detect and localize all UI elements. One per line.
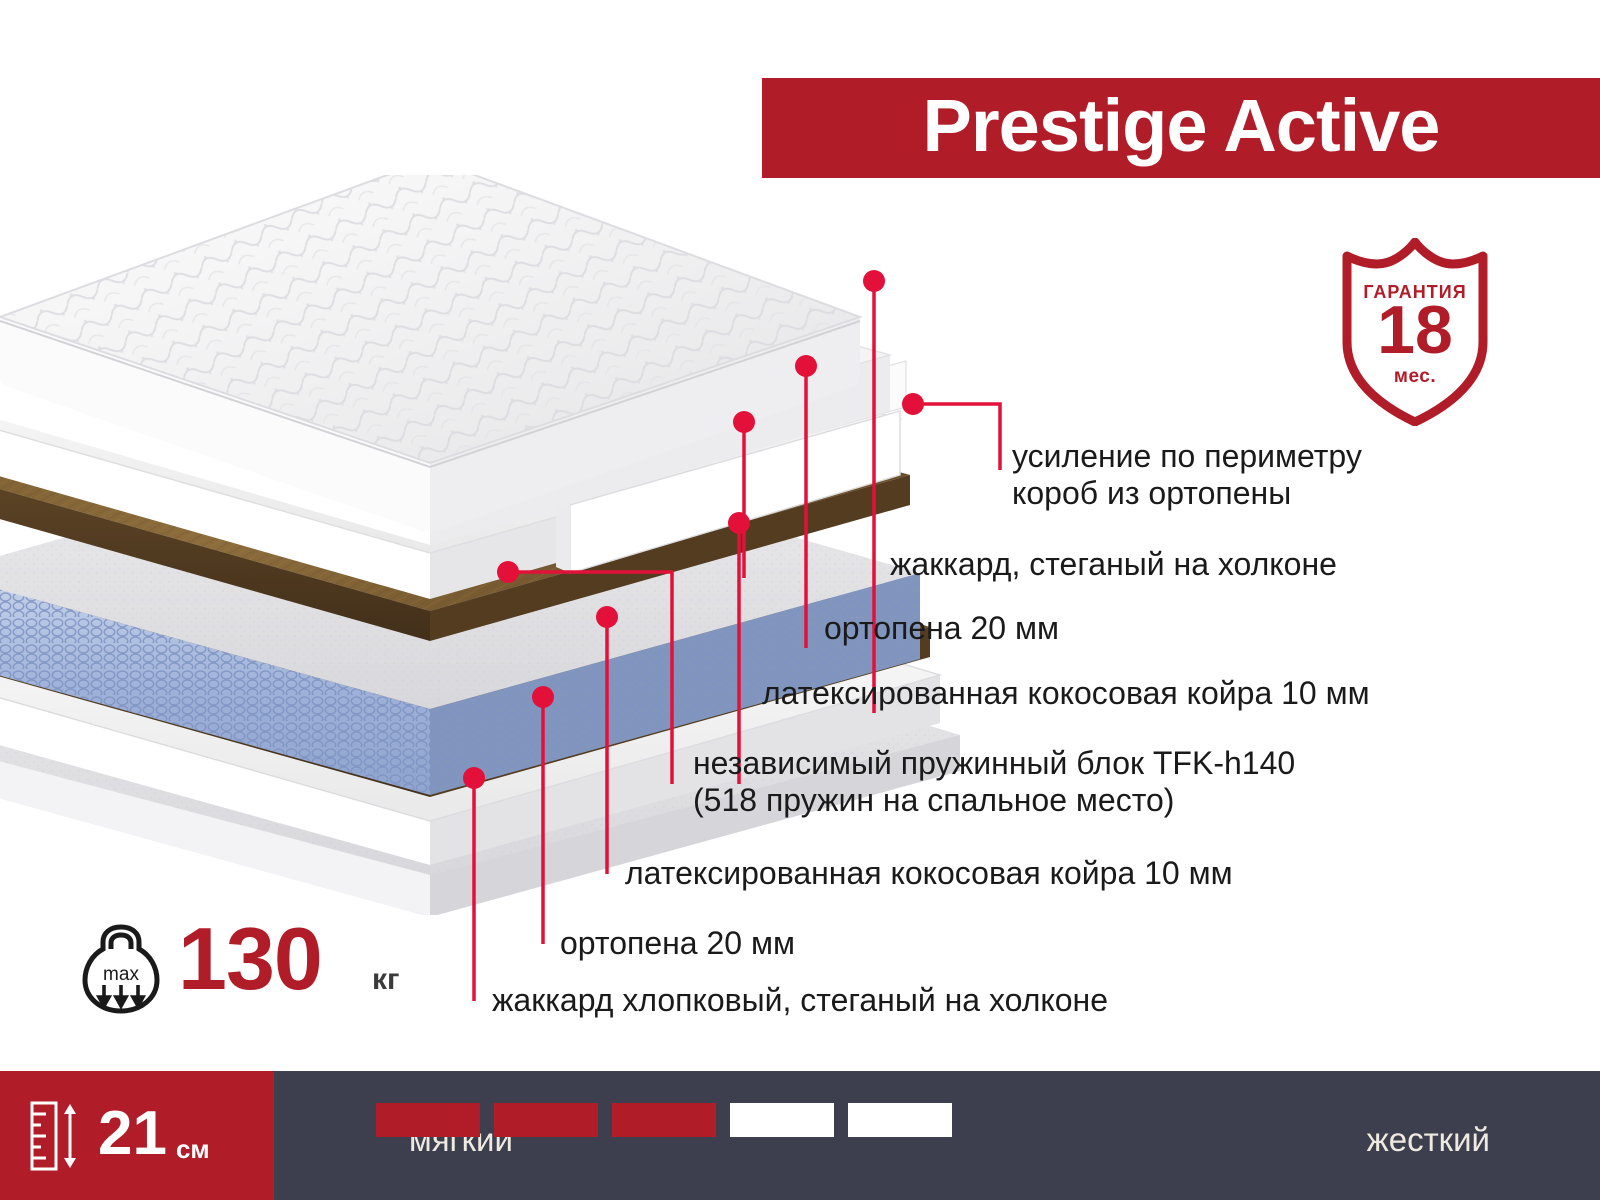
max-weight-value: 130 [178, 915, 322, 1003]
firmness-segment-5 [848, 1103, 952, 1137]
firmness-segment-3 [612, 1103, 716, 1137]
firmness-segment-2 [494, 1103, 598, 1137]
firmness-hard-label: жесткий [1367, 1121, 1490, 1159]
callout-coir-bottom: латексированная кокосовая койра 10 мм [625, 855, 1233, 892]
warranty-unit: мес. [1337, 366, 1493, 388]
infographic-canvas: Prestige Active ГАРАНТИЯ 18 мес. [0, 0, 1600, 1200]
callout-perimeter-line1: усиление по периметру [1012, 438, 1552, 475]
height-block: 21 см [0, 1071, 274, 1200]
firmness-segment-4 [730, 1103, 834, 1137]
product-title-banner: Prestige Active [762, 78, 1600, 178]
height-unit: см [176, 1134, 210, 1165]
max-weight-icon-label: max [103, 964, 139, 985]
firmness-scale [376, 1103, 956, 1137]
max-weight-indicator: max 130 кг [78, 915, 478, 1020]
height-value: 21 [98, 1103, 167, 1165]
callout-ortopena-bottom: ортопена 20 мм [560, 925, 795, 962]
callout-coir-top: латексированная кокосовая койра 10 мм [762, 675, 1370, 712]
callout-ortopena-top: ортопена 20 мм [824, 610, 1059, 647]
callout-perimeter: усиление по периметру короб из ортопены [1012, 438, 1552, 512]
callout-spring-line2: (518 пружин на спальное место) [693, 782, 1573, 819]
warranty-badge: ГАРАНТИЯ 18 мес. [1337, 238, 1493, 426]
warranty-months: 18 [1337, 296, 1493, 364]
max-weight-unit: кг [372, 963, 400, 997]
callout-jacquard-top: жаккард, стеганый на холконе [890, 546, 1337, 583]
callout-perimeter-line2: короб из ортопены [1012, 475, 1552, 512]
kettlebell-icon: max [78, 923, 164, 1015]
callout-jacquard-bottom: жаккард хлопковый, стеганый на холконе [492, 982, 1108, 1019]
callout-spring-line1: независимый пружинный блок TFK-h140 [693, 745, 1573, 782]
page-title: Prestige Active [923, 89, 1440, 163]
ruler-height-icon [30, 1100, 82, 1172]
callout-spring-block: независимый пружинный блок TFK-h140 (518… [693, 745, 1573, 819]
firmness-segment-1 [376, 1103, 480, 1137]
